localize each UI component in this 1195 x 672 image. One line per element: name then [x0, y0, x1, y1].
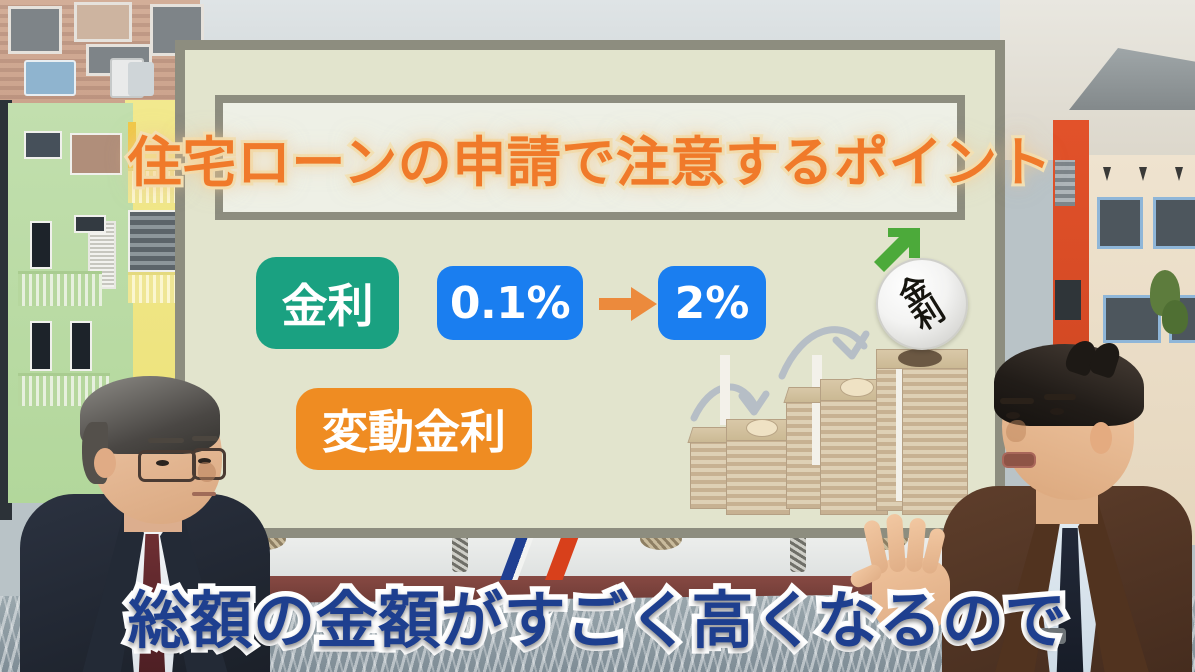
mouth — [1002, 452, 1036, 468]
vent — [74, 215, 106, 233]
video-frame: 住宅ローンの申請で注意するポイント 金利 0.1% 2% 変動金利 — [0, 0, 1195, 672]
money-portrait — [746, 419, 778, 437]
window — [30, 221, 52, 269]
water-tank — [128, 62, 154, 96]
decor-triangle — [1139, 167, 1147, 181]
window — [70, 133, 122, 175]
coin-label: 金利 — [895, 273, 950, 336]
eyeglasses-lens — [138, 450, 196, 482]
eye — [1050, 408, 1064, 415]
slide-title: 住宅ローンの申請で注意するポイント — [128, 118, 1052, 197]
money-stack — [726, 435, 790, 515]
window — [30, 321, 52, 371]
nose — [198, 462, 216, 482]
window — [8, 6, 62, 54]
finger — [886, 514, 906, 573]
badge-rate-from[interactable]: 0.1% — [437, 266, 583, 340]
water-tank — [24, 60, 76, 96]
eye — [156, 460, 169, 466]
mouth — [192, 492, 216, 496]
window — [1153, 197, 1195, 249]
window — [74, 2, 132, 42]
balcony — [18, 271, 102, 306]
window — [70, 321, 92, 371]
arrow-right-icon — [599, 287, 657, 321]
subtitle-caption: 総額の金額がすごく高くなるので — [0, 570, 1195, 660]
badge-variable-rate[interactable]: 変動金利 — [296, 388, 532, 470]
eyebrow — [148, 438, 184, 443]
eye — [1006, 412, 1020, 419]
window — [1055, 160, 1075, 206]
money-portrait — [898, 349, 942, 367]
window — [1055, 280, 1081, 320]
badge-interest-rate[interactable]: 金利 — [256, 257, 399, 349]
window — [128, 210, 182, 272]
decor-triangle — [1175, 167, 1183, 181]
money-stacks-illustration — [690, 355, 950, 515]
money-portrait — [840, 378, 874, 397]
eyebrow — [192, 436, 218, 441]
balcony — [128, 272, 182, 303]
nose — [1006, 420, 1026, 442]
potted-plant — [1162, 300, 1188, 334]
ear — [1090, 422, 1112, 454]
window — [1097, 197, 1143, 249]
eyebrow — [1000, 398, 1034, 404]
eyebrow — [1044, 394, 1076, 400]
ear — [94, 448, 116, 478]
slide-title-box: 住宅ローンの申請で注意するポイント — [215, 95, 965, 220]
money-band — [720, 355, 730, 425]
window — [24, 131, 62, 159]
decor-triangle — [1103, 167, 1111, 181]
